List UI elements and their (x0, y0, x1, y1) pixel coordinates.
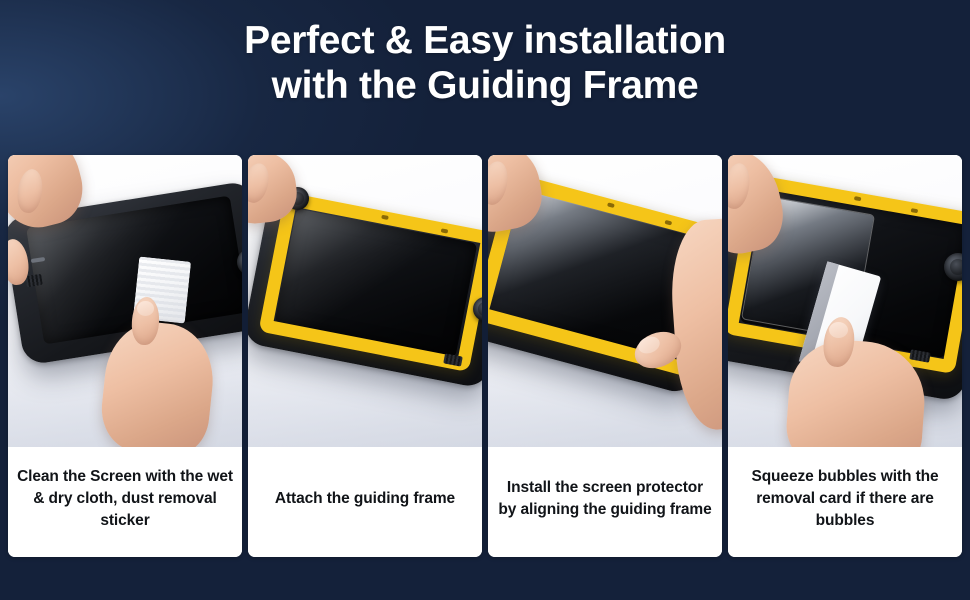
step-photo-1 (8, 155, 242, 447)
step-caption-text-4: Squeeze bubbles with the removal card if… (736, 466, 954, 532)
step-photo-2 (248, 155, 482, 447)
step-caption-text-1: Clean the Screen with the wet & dry clot… (16, 466, 234, 532)
fingernail (829, 322, 848, 338)
steps-row: Clean the Screen with the wet & dry clot… (8, 155, 962, 557)
step-caption-3: Install the screen protector by aligning… (488, 447, 722, 557)
step-photo-3 (488, 155, 722, 447)
step-caption-1: Clean the Screen with the wet & dry clot… (8, 447, 242, 557)
step-panel-4: Squeeze bubbles with the removal card if… (728, 155, 962, 557)
step-caption-2: Attach the guiding frame (248, 447, 482, 557)
step-caption-text-2: Attach the guiding frame (275, 488, 455, 510)
header: Perfect & Easy installation with the Gui… (0, 18, 970, 108)
page-title-line-2: with the Guiding Frame (0, 63, 970, 108)
fingernail (137, 301, 154, 316)
step-panel-2: Attach the guiding frame (248, 155, 482, 557)
step-panel-1: Clean the Screen with the wet & dry clot… (8, 155, 242, 557)
page-title: Perfect & Easy installation with the Gui… (0, 18, 970, 108)
step-photo-4 (728, 155, 962, 447)
step-panel-3: Install the screen protector by aligning… (488, 155, 722, 557)
page-title-line-1: Perfect & Easy installation (244, 19, 726, 62)
step-caption-4: Squeeze bubbles with the removal card if… (728, 447, 962, 557)
step-caption-text-3: Install the screen protector by aligning… (496, 477, 714, 521)
